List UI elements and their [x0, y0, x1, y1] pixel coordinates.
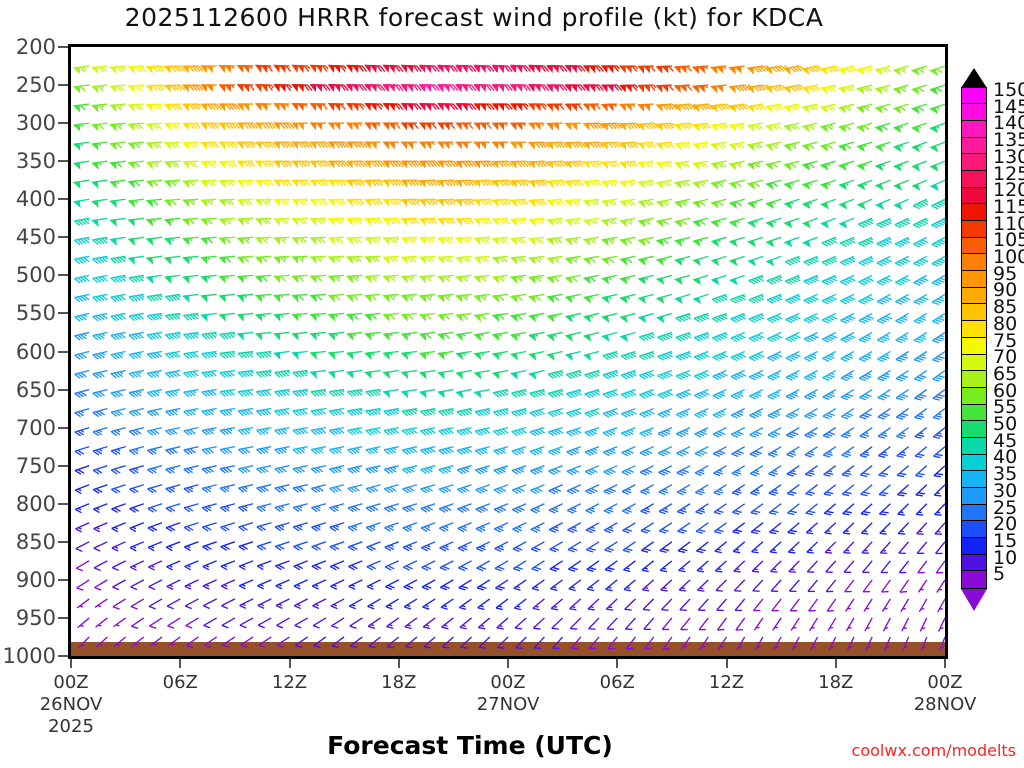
x-axis-tick-label: 00Z [927, 672, 962, 693]
legend-color-cell [961, 420, 987, 438]
legend-color-cell [961, 520, 987, 538]
legend-color-cell [961, 270, 987, 288]
plot-area [68, 44, 948, 659]
x-axis-tick-label: 12Z [709, 672, 744, 693]
legend-color-cell [961, 220, 987, 238]
legend-color-cell [961, 354, 987, 372]
legend-color-cell [961, 103, 987, 121]
x-axis-tick-mark [835, 659, 837, 668]
y-axis-tick-label: 700 [16, 416, 56, 440]
y-axis-tick-mark [58, 655, 68, 657]
legend-color-cell [961, 337, 987, 355]
x-axis-tick-mark [289, 659, 291, 668]
y-axis-tick-label: 800 [16, 492, 56, 516]
x-axis-date-label: 27NOV [477, 694, 540, 715]
legend-color-cell [961, 554, 987, 572]
y-axis-tick-mark [58, 160, 68, 162]
legend-color-cell [961, 387, 987, 405]
y-axis-tick-label: 200 [16, 35, 56, 59]
y-axis-tick-mark [58, 46, 68, 48]
x-axis-tick-mark [507, 659, 509, 668]
legend-color-cell [961, 137, 987, 155]
y-axis-tick-mark [58, 236, 68, 238]
y-axis-tick-mark [58, 84, 68, 86]
credit-watermark: coolwx.com/modelts [852, 741, 1016, 760]
y-axis-tick-mark [58, 503, 68, 505]
x-axis-date-label: 26NOV [40, 694, 103, 715]
legend-color-cell [961, 120, 987, 138]
y-axis-tick-label: 1000 [3, 644, 56, 668]
y-axis-tick-mark [58, 541, 68, 543]
legend-color-cell [961, 370, 987, 388]
y-axis-tick-mark [58, 274, 68, 276]
x-axis-tick-label: 00Z [490, 672, 525, 693]
legend-color-cell [961, 153, 987, 171]
legend-color-cell [961, 253, 987, 271]
x-axis-tick-mark [616, 659, 618, 668]
x-axis-tick-label: 06Z [600, 672, 635, 693]
legend-color-cell [961, 187, 987, 205]
x-axis-date-label: 28NOV [914, 694, 977, 715]
legend-color-cell [961, 170, 987, 188]
page-title: 2025112600 HRRR forecast wind profile (k… [0, 3, 948, 32]
y-axis-tick-mark [58, 122, 68, 124]
legend-color-cell [961, 437, 987, 455]
legend-cap-top-arrow [961, 68, 987, 88]
x-axis-tick-mark [179, 659, 181, 668]
y-axis-tick-mark [58, 351, 68, 353]
y-axis-tick-mark [58, 198, 68, 200]
legend-color-cell [961, 537, 987, 555]
legend-color-cell [961, 454, 987, 472]
y-axis-tick-label: 900 [16, 568, 56, 592]
y-axis-tick-label: 750 [16, 454, 56, 478]
wind-barb-layer [71, 47, 945, 656]
x-axis-tick-label: 00Z [53, 672, 88, 693]
y-axis-tick-mark [58, 465, 68, 467]
legend-label: 5 [993, 563, 1005, 585]
y-axis-tick-mark [58, 312, 68, 314]
y-axis-tick-mark [58, 427, 68, 429]
legend-color-cell [961, 404, 987, 422]
y-axis-tick-label: 550 [16, 301, 56, 325]
legend-color-cell [961, 470, 987, 488]
y-axis-tick-label: 250 [16, 73, 56, 97]
y-axis-tick-mark [58, 389, 68, 391]
legend-color-cell [961, 303, 987, 321]
legend-color-cell [961, 320, 987, 338]
y-axis-tick-label: 450 [16, 225, 56, 249]
legend-color-cell [961, 87, 987, 105]
x-axis-tick-mark [944, 659, 946, 668]
legend-cap-bottom-arrow [961, 589, 987, 611]
x-axis-title: Forecast Time (UTC) [0, 731, 940, 760]
y-axis-tick-mark [58, 579, 68, 581]
x-axis-tick-mark [398, 659, 400, 668]
x-axis-tick-label: 12Z [272, 672, 307, 693]
x-axis-tick-label: 18Z [381, 672, 416, 693]
y-axis-tick-label: 300 [16, 111, 56, 135]
x-axis-tick-mark [726, 659, 728, 668]
y-axis-tick-label: 500 [16, 263, 56, 287]
x-axis-tick-label: 06Z [163, 672, 198, 693]
y-axis-tick-mark [58, 617, 68, 619]
x-axis-tick-label: 18Z [818, 672, 853, 693]
y-axis-tick-label: 950 [16, 606, 56, 630]
legend-color-cell [961, 504, 987, 522]
x-axis-tick-mark [70, 659, 72, 668]
y-axis-tick-label: 350 [16, 149, 56, 173]
y-axis-tick-label: 400 [16, 187, 56, 211]
legend-color-cell [961, 237, 987, 255]
legend-color-cell [961, 287, 987, 305]
legend-color-cell [961, 203, 987, 221]
y-axis-tick-label: 600 [16, 340, 56, 364]
color-legend [961, 88, 987, 589]
legend-color-cell [961, 570, 987, 588]
legend-color-cell [961, 487, 987, 505]
y-axis-tick-label: 850 [16, 530, 56, 554]
y-axis-tick-label: 650 [16, 378, 56, 402]
